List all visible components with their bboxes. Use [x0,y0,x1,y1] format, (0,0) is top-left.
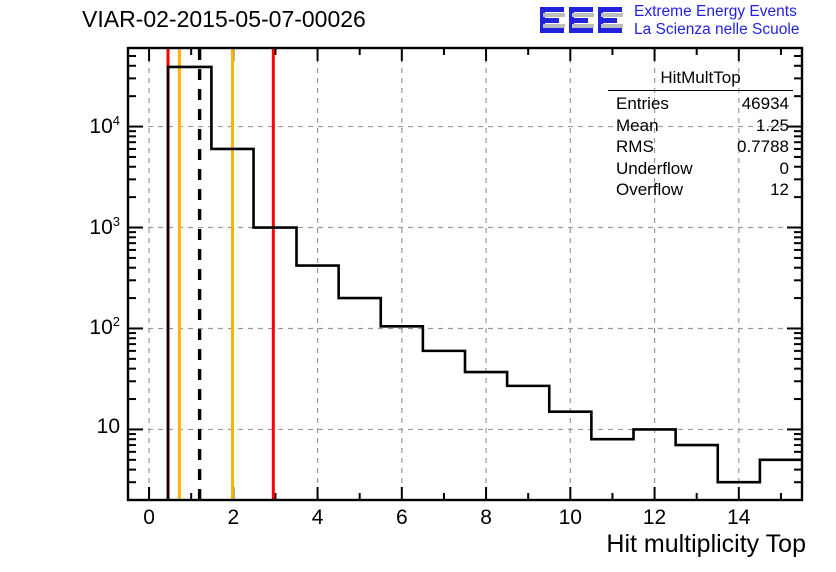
stats-label: RMS [616,137,654,157]
stats-row-rms: RMS0.7788 [608,137,793,158]
stats-row-mean: Mean1.25 [608,116,793,137]
eee-logo-line1: Extreme Energy Events [634,3,799,21]
stats-value: 46934 [742,94,789,114]
stats-box-title: HitMultTop [608,68,793,91]
x-tick-label-14: 14 [727,506,750,530]
stats-value: 0.7788 [737,137,789,157]
y-tick-label-10: 10 [97,415,120,439]
eee-logo-mark [538,4,628,38]
stats-label: Mean [616,116,659,136]
stats-value: 1.25 [756,116,789,136]
x-tick-label-0: 0 [143,506,155,530]
stats-label: Entries [616,94,669,114]
y-tick-label-10000: 104 [89,113,120,139]
threshold-markers [168,49,273,499]
stats-label: Underflow [616,159,693,179]
x-tick-label-4: 4 [312,506,324,530]
y-tick-label-1000: 103 [89,214,120,240]
stats-row-underflow: Underflow0 [608,159,793,180]
x-tick-label-10: 10 [559,506,582,530]
stats-row-overflow: Overflow12 [608,180,793,201]
x-tick-label-8: 8 [480,506,492,530]
stats-box: HitMultTop Entries46934Mean1.25RMS0.7788… [608,68,793,201]
stats-label: Overflow [616,180,683,200]
eee-logo-line2: La Scienza nelle Scuole [634,21,799,39]
x-axis-title: Hit multiplicity Top [606,530,806,559]
y-tick-label-100: 102 [89,314,120,340]
eee-logo-text: Extreme Energy Events La Scienza nelle S… [634,3,799,39]
x-tick-label-2: 2 [227,506,239,530]
stats-row-entries: Entries46934 [608,94,793,115]
eee-logo: Extreme Energy Events La Scienza nelle S… [538,2,834,40]
page-title: VIAR-02-2015-05-07-00026 [82,6,366,33]
x-tick-label-6: 6 [396,506,408,530]
stats-value: 0 [780,159,789,179]
stats-value: 12 [770,180,789,200]
root-canvas: VIAR-02-2015-05-07-00026 [0,0,836,572]
x-tick-label-12: 12 [643,506,666,530]
